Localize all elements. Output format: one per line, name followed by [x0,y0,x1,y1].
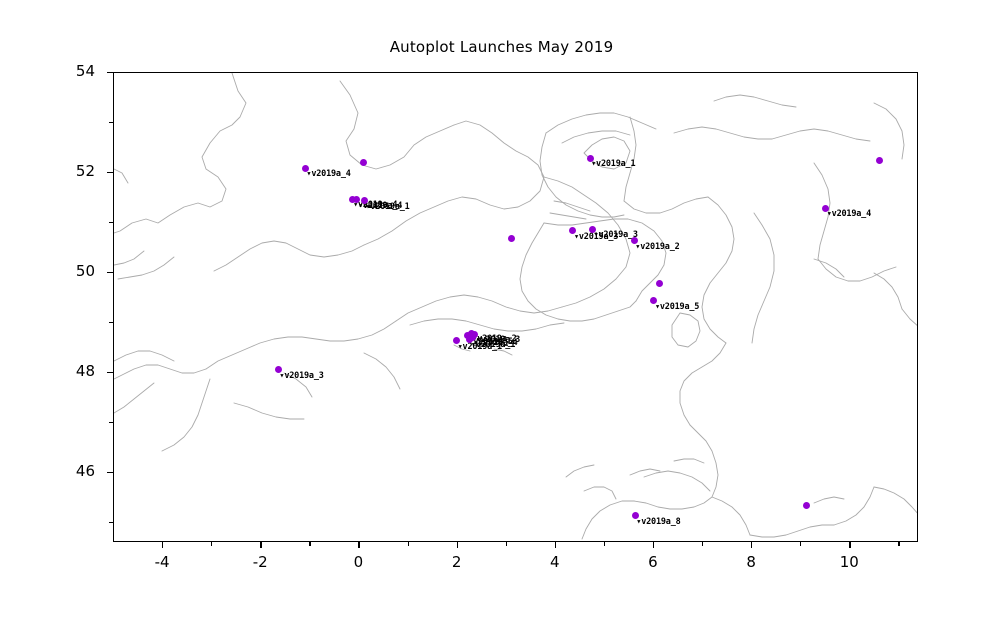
scatter-point[interactable] [508,235,515,242]
x-axis-tick-label: -2 [230,553,290,571]
map-plot-area[interactable]: ▾v2019a_4▾v2019a_4▾v2019a_4▾v2019a_1▾v20… [113,72,918,542]
y-axis-tick [107,272,113,273]
x-axis-tick-label: 0 [328,553,388,571]
scatter-point-label: ▾v2019a_2 [635,242,679,252]
y-axis-tick-label: 48 [35,362,95,380]
y-axis-minor-tick [109,122,113,123]
x-axis-tick-label: 4 [525,553,585,571]
scatter-point-label: ▾v2019a_3 [279,371,323,381]
x-axis-tick-label: 8 [721,553,781,571]
y-axis-tick-label: 50 [35,262,95,280]
x-axis-tick [849,542,850,548]
x-axis-minor-tick [702,542,703,546]
scatter-point[interactable] [803,502,810,509]
scatter-point-label: ▾v2019a_5 [655,302,699,312]
y-axis-minor-tick [109,322,113,323]
y-axis-tick [107,172,113,173]
x-axis-tick [653,542,654,548]
x-axis-minor-tick [408,542,409,546]
chart-title: Autoplot Launches May 2019 [0,38,1003,56]
y-axis-minor-tick [109,522,113,523]
scatter-point[interactable] [876,157,883,164]
x-axis-tick-label: 10 [819,553,879,571]
scatter-point-label: ▾v2019a_4 [306,169,350,179]
x-axis-tick [751,542,752,548]
scatter-point-label: ▾v2019a_1 [365,202,409,212]
x-axis-minor-tick [898,542,899,546]
y-axis-tick [107,472,113,473]
scatter-point-label: ▾v2019a_1 [471,340,515,350]
y-axis-tick [107,72,113,73]
y-axis-tick-label: 46 [35,462,95,480]
basemap-coastlines [114,73,918,542]
x-axis-tick [358,542,359,548]
x-axis-tick [162,542,163,548]
scatter-point[interactable] [360,159,367,166]
y-axis-tick-label: 52 [35,162,95,180]
figure-canvas: Autoplot Launches May 2019 [0,0,1003,633]
y-axis-minor-tick [109,422,113,423]
x-axis-tick [260,542,261,548]
scatter-point-label: ▾v2019a_8 [636,517,680,527]
x-axis-minor-tick [800,542,801,546]
scatter-point[interactable] [656,280,663,287]
x-axis-minor-tick [309,542,310,546]
scatter-point-label: ▾v2019a_4 [827,209,871,219]
x-axis-tick [457,542,458,548]
x-axis-minor-tick [604,542,605,546]
x-axis-tick-label: -4 [132,553,192,571]
y-axis-minor-tick [109,222,113,223]
scatter-point-label: ▾v2019a_1 [591,159,635,169]
x-axis-tick-label: 6 [623,553,683,571]
x-axis-minor-tick [506,542,507,546]
x-axis-tick-label: 2 [427,553,487,571]
y-axis-tick [107,372,113,373]
y-axis-tick-label: 54 [35,62,95,80]
x-axis-tick [555,542,556,548]
x-axis-minor-tick [211,542,212,546]
